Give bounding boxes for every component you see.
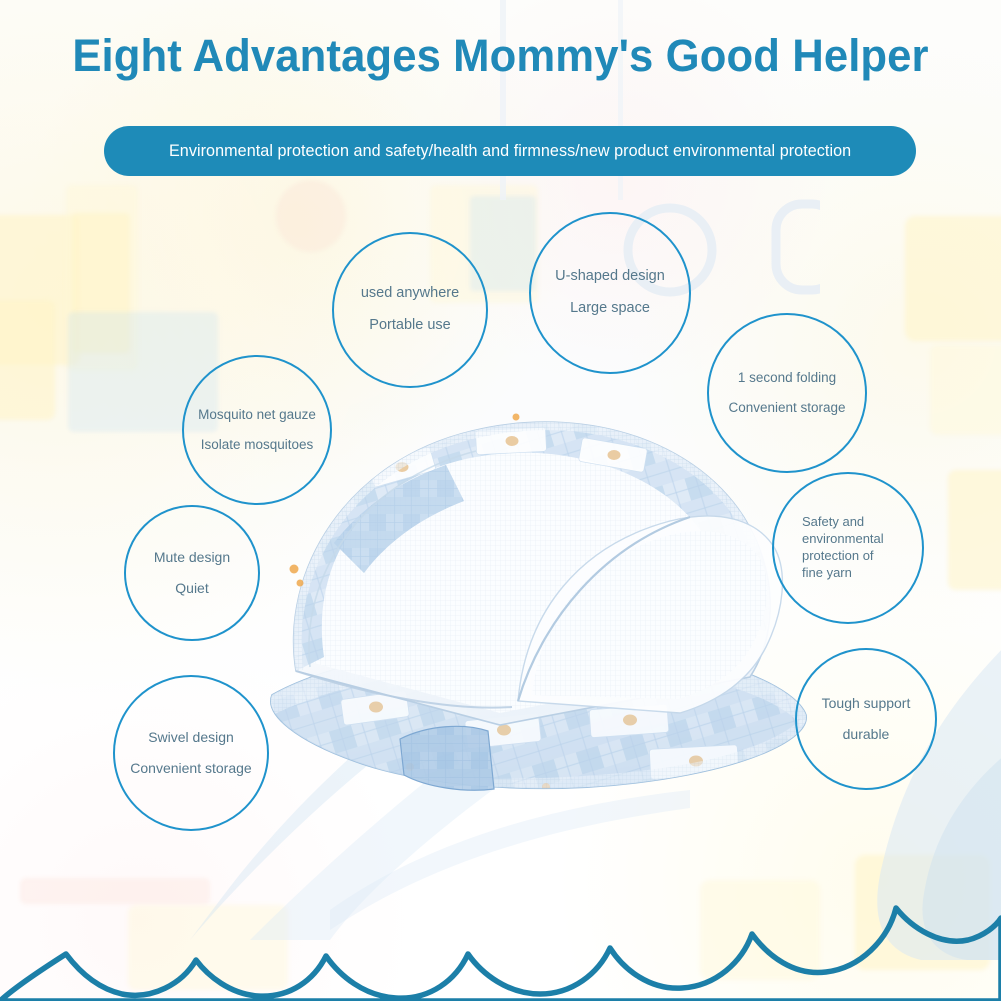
bg-block-left-mid bbox=[66, 185, 138, 370]
bottom-wave-decoration bbox=[0, 876, 1001, 1001]
product-canopy bbox=[294, 422, 783, 725]
product-infographic-poster: Eight Advantages Mommy's Good Helper Env… bbox=[0, 0, 1001, 1001]
bubble-safety-fine-yarn-line4: fine yarn bbox=[802, 565, 852, 582]
bg-block-left-tall bbox=[0, 215, 80, 365]
bubble-u-shaped-design-line1: U-shaped design bbox=[555, 268, 665, 286]
bubble-tough-support-line1: Tough support bbox=[822, 695, 911, 712]
bubble-one-second-folding-line1: 1 second folding bbox=[738, 370, 836, 386]
bg-block-right-low bbox=[948, 470, 1001, 590]
bubble-safety-fine-yarn-line2: environmental bbox=[802, 531, 884, 548]
bg-block-left-lower bbox=[0, 300, 55, 420]
bubble-tough-support-line2: durable bbox=[843, 726, 890, 743]
bubble-safety-fine-yarn[interactable]: Safety and environmental protection of f… bbox=[772, 472, 924, 624]
bubble-used-anywhere-line1: used anywhere bbox=[361, 285, 459, 303]
page-title: Eight Advantages Mommy's Good Helper bbox=[15, 30, 986, 82]
bubble-safety-fine-yarn-line1: Safety and bbox=[802, 514, 864, 531]
bubble-mute-design[interactable]: Mute design Quiet bbox=[124, 505, 260, 641]
subtitle-text: Environmental protection and safety/heal… bbox=[169, 142, 851, 161]
product-illustration bbox=[250, 395, 820, 805]
bg-block-tower bbox=[72, 213, 130, 353]
bubble-mosquito-net-gauze[interactable]: Mosquito net gauze Isolate mosquitoes bbox=[182, 355, 332, 505]
bubble-u-shaped-design[interactable]: U-shaped design Large space bbox=[529, 212, 691, 374]
bubble-one-second-folding-line2: Convenient storage bbox=[728, 400, 845, 416]
bubble-swivel-design[interactable]: Swivel design Convenient storage bbox=[113, 675, 269, 831]
bubble-mute-design-line2: Quiet bbox=[175, 580, 208, 597]
bubble-mosquito-net-gauze-line1: Mosquito net gauze bbox=[198, 407, 316, 423]
subtitle-banner: Environmental protection and safety/heal… bbox=[104, 126, 916, 176]
bubble-mute-design-line1: Mute design bbox=[154, 549, 230, 566]
bubble-swivel-design-line2: Convenient storage bbox=[130, 760, 251, 777]
bg-block-right-top bbox=[905, 216, 1001, 341]
bg-blob-center-top bbox=[276, 180, 346, 252]
bubble-used-anywhere[interactable]: used anywhere Portable use bbox=[332, 232, 488, 388]
bubble-mosquito-net-gauze-line2: Isolate mosquitoes bbox=[201, 437, 314, 453]
bubble-u-shaped-design-line2: Large space bbox=[570, 300, 650, 318]
bubble-safety-fine-yarn-line3: protection of bbox=[802, 548, 874, 565]
bubble-swivel-design-line1: Swivel design bbox=[148, 729, 234, 746]
product-image bbox=[250, 395, 820, 805]
bubble-tough-support[interactable]: Tough support durable bbox=[795, 648, 937, 790]
bubble-one-second-folding[interactable]: 1 second folding Convenient storage bbox=[707, 313, 867, 473]
bg-block-right-mid bbox=[930, 345, 1001, 435]
bubble-used-anywhere-line2: Portable use bbox=[369, 317, 450, 335]
